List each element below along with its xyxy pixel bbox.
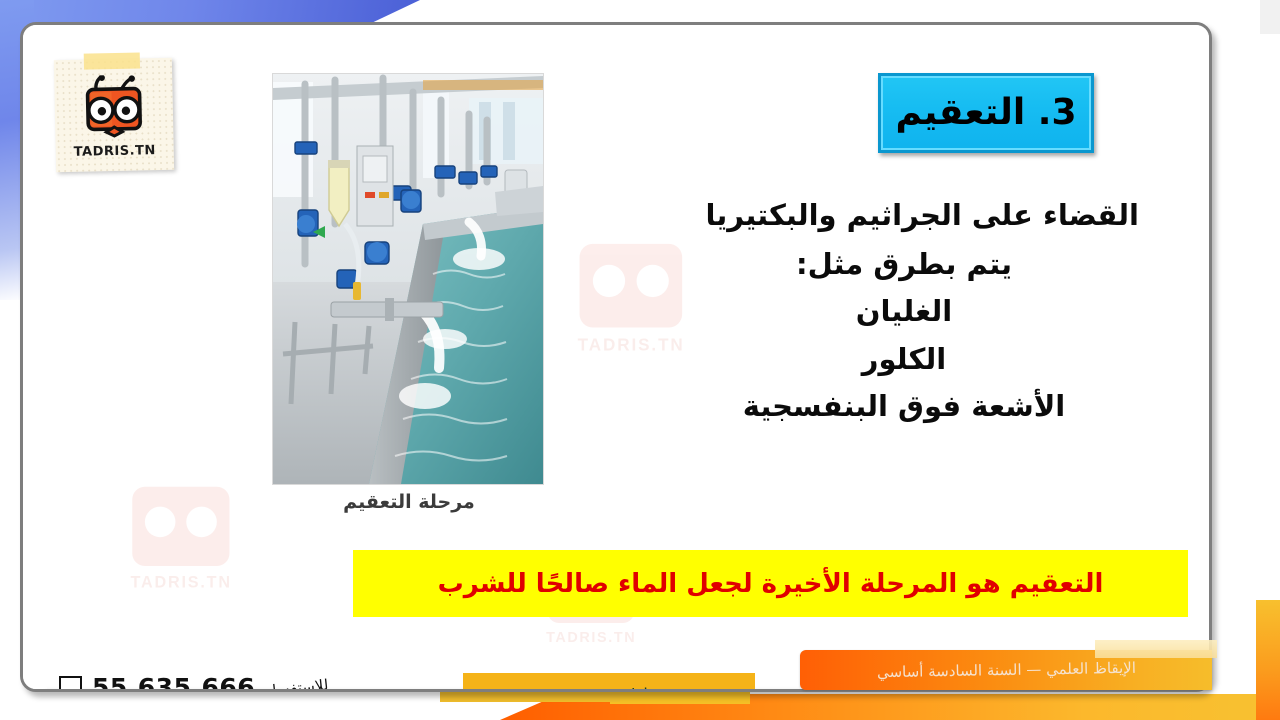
tape-strip [84, 52, 140, 69]
body-line-1: القضاء على الجراثيم والبكتيريا [669, 195, 1139, 236]
brand-logo-text: TADRIS.TN [56, 143, 174, 160]
treatment-plant-photo [272, 73, 544, 485]
body-line-4: الكلور [669, 339, 1139, 380]
checkbox-icon[interactable] [59, 676, 82, 692]
highlight-text: التعقيم هو المرحلة الأخيرة لجعل الماء صا… [438, 569, 1104, 599]
body-line-3: الغليان [669, 291, 1139, 332]
contact-row: 55.635.666 للاستفسار [59, 673, 331, 692]
decor-band-bottom-yellow [610, 690, 750, 704]
highlight-banner: التعقيم هو المرحلة الأخيرة لجعل الماء صا… [353, 550, 1188, 617]
phone-number: 55.635.666 [92, 673, 255, 692]
robot-head-icon [74, 74, 153, 146]
body-line-5: الأشعة فوق البنفسجية [669, 386, 1139, 427]
brand-logo-note[interactable]: TADRIS.TN [54, 58, 174, 172]
decor-band-right-orange [1256, 600, 1280, 720]
body-text-block: القضاء على الجراثيم والبكتيريا يتم بطرق … [669, 195, 1139, 427]
subject-tape-strip [1095, 640, 1217, 658]
author-box: فاطمة سعيدي [463, 673, 755, 692]
page-title: 3. التعقيم [896, 95, 1077, 131]
author-name: فاطمة سعيدي [561, 684, 657, 692]
phone-label: للاستفسار [264, 675, 329, 692]
whiteboard: TADRIS.TN TADRIS.TN TADRIS.TN [20, 22, 1212, 692]
decor-band-right-top [1260, 0, 1280, 34]
photo-block: مرحلة التعقيم [274, 73, 544, 483]
slide-title-box: 3. التعقيم [878, 73, 1094, 153]
body-line-2: يتم بطرق مثل: [669, 244, 1139, 285]
subject-text: الإيقاظ العلمي — السنة السادسة أساسي [876, 659, 1135, 682]
photo-caption: مرحلة التعقيم [274, 491, 544, 513]
slide-stage: TADRIS.TN TADRIS.TN TADRIS.TN [0, 0, 1280, 720]
